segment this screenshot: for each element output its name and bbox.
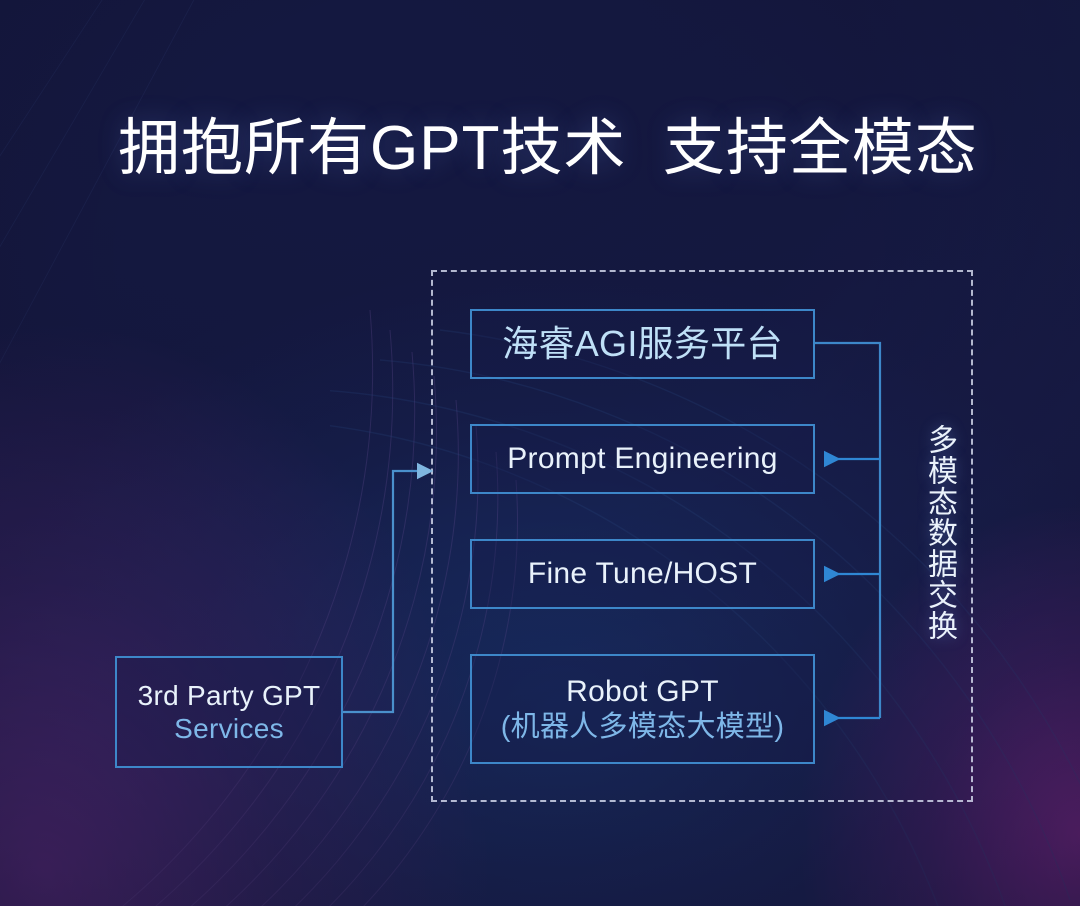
node-prompt-engineering[interactable]: Prompt Engineering [470,424,815,494]
slide-canvas: 拥抱所有GPT技术 支持全模态 海睿AGI服务平台 Prompt Enginee… [0,0,1080,906]
node-third-party-gpt-services[interactable]: 3rd Party GPT Services [115,656,343,768]
vertical-label-multimodal-data-exchange: 多模态数据交换 [914,424,956,641]
node-robot-gpt[interactable]: Robot GPT (机器人多模态大模型) [470,654,815,764]
page-title: 拥抱所有GPT技术 支持全模态 [118,113,978,184]
node-prompt-engineering-label: Prompt Engineering [507,441,778,476]
node-fine-tune-host[interactable]: Fine Tune/HOST [470,539,815,609]
node-robot-gpt-label: Robot GPT [566,674,719,709]
node-agi-platform[interactable]: 海睿AGI服务平台 [470,309,815,379]
node-third-party-gpt-label: 3rd Party GPT [138,679,321,712]
node-third-party-services-label: Services [174,712,284,745]
node-agi-platform-label: 海睿AGI服务平台 [502,323,783,365]
node-fine-tune-host-label: Fine Tune/HOST [528,556,757,591]
node-robot-gpt-sublabel: (机器人多模态大模型) [501,710,785,744]
